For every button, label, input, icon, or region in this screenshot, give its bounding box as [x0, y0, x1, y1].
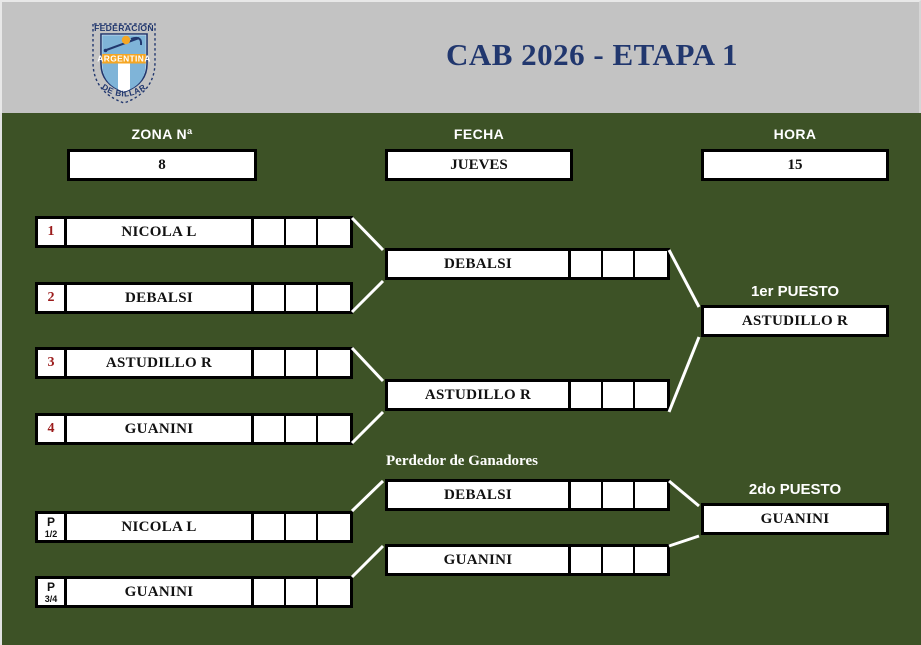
score-cell-3[interactable]: [635, 251, 667, 277]
federation-logo: ARGENTINA FEDERACIÓN DE BILLAR: [84, 12, 164, 107]
score-cell-1[interactable]: [254, 219, 286, 245]
page-title: CAB 2026 - ETAPA 1: [272, 37, 912, 73]
score-cell-3[interactable]: [635, 382, 667, 408]
seed-loser-bottom: 1/2: [45, 530, 58, 539]
semifinal-box-2[interactable]: ASTUDILLO R: [385, 379, 670, 411]
score-cell-1[interactable]: [571, 251, 603, 277]
score-cell-2[interactable]: [286, 285, 318, 311]
player-name: NICOLA L: [67, 219, 254, 245]
score-cell-1[interactable]: [254, 416, 286, 442]
score-cell-2[interactable]: [603, 382, 635, 408]
fecha-value-box[interactable]: JUEVES: [385, 149, 573, 181]
hora-label: HORA: [701, 126, 889, 142]
round1-row-1[interactable]: 1 NICOLA L: [35, 216, 353, 248]
seed-number: 3: [38, 350, 67, 376]
seed-loser-label: P 1/2: [38, 514, 67, 540]
score-cell-2[interactable]: [286, 514, 318, 540]
fecha-label: FECHA: [385, 126, 573, 142]
seed-loser-label: P 3/4: [38, 579, 67, 605]
bracket-field: ZONA Nª FECHA HORA 8 JUEVES 15 1 NICOLA …: [0, 113, 921, 645]
page-header: ARGENTINA FEDERACIÓN DE BILLAR CAB 2026 …: [0, 0, 921, 113]
player-name: GUANINI: [67, 416, 254, 442]
seed-loser-top: P: [47, 516, 55, 528]
player-name: GUANINI: [388, 547, 571, 573]
logo-top-text: FEDERACIÓN: [94, 22, 154, 33]
round1-row-3[interactable]: 3 ASTUDILLO R: [35, 347, 353, 379]
score-cell-3[interactable]: [318, 350, 350, 376]
seed-loser-bottom: 3/4: [45, 595, 58, 604]
player-name: ASTUDILLO R: [388, 382, 571, 408]
losers-row-2[interactable]: P 3/4 GUANINI: [35, 576, 353, 608]
score-cell-1[interactable]: [254, 514, 286, 540]
score-cell-2[interactable]: [286, 416, 318, 442]
seed-number: 1: [38, 219, 67, 245]
score-cell-2[interactable]: [603, 482, 635, 508]
score-cell-2[interactable]: [286, 350, 318, 376]
losers-row-1[interactable]: P 1/2 NICOLA L: [35, 511, 353, 543]
score-cell-1[interactable]: [254, 350, 286, 376]
score-cell-1[interactable]: [571, 382, 603, 408]
score-cell-2[interactable]: [286, 219, 318, 245]
score-cell-3[interactable]: [318, 416, 350, 442]
semifinal-box-1[interactable]: DEBALSI: [385, 248, 670, 280]
logo-band-text: ARGENTINA: [97, 54, 150, 64]
score-cell-2[interactable]: [603, 547, 635, 573]
player-name: DEBALSI: [388, 482, 571, 508]
seed-number: 4: [38, 416, 67, 442]
second-place-label: 2do PUESTO: [701, 481, 889, 498]
round1-row-2[interactable]: 2 DEBALSI: [35, 282, 353, 314]
zona-label: ZONA Nª: [67, 126, 257, 142]
first-place-label: 1er PUESTO: [701, 283, 889, 300]
round1-row-4[interactable]: 4 GUANINI: [35, 413, 353, 445]
score-cell-1[interactable]: [254, 579, 286, 605]
score-cell-3[interactable]: [318, 219, 350, 245]
consolation-box-2[interactable]: GUANINI: [385, 544, 670, 576]
score-cell-2[interactable]: [286, 579, 318, 605]
player-name: GUANINI: [67, 579, 254, 605]
score-cell-1[interactable]: [571, 547, 603, 573]
seed-number: 2: [38, 285, 67, 311]
tournament-bracket-page: ARGENTINA FEDERACIÓN DE BILLAR CAB 2026 …: [0, 0, 921, 645]
hora-value-box[interactable]: 15: [701, 149, 889, 181]
score-cell-3[interactable]: [635, 482, 667, 508]
player-name: ASTUDILLO R: [67, 350, 254, 376]
seed-loser-top: P: [47, 581, 55, 593]
score-cell-3[interactable]: [318, 285, 350, 311]
player-name: NICOLA L: [67, 514, 254, 540]
first-place-box[interactable]: ASTUDILLO R: [701, 305, 889, 337]
player-name: DEBALSI: [67, 285, 254, 311]
score-cell-3[interactable]: [635, 547, 667, 573]
score-cell-1[interactable]: [571, 482, 603, 508]
score-cell-2[interactable]: [603, 251, 635, 277]
score-cell-1[interactable]: [254, 285, 286, 311]
second-place-box[interactable]: GUANINI: [701, 503, 889, 535]
score-cell-3[interactable]: [318, 579, 350, 605]
player-name: DEBALSI: [388, 251, 571, 277]
federation-shield-icon: ARGENTINA FEDERACIÓN DE BILLAR: [84, 12, 164, 107]
perdedor-de-ganadores-heading: Perdedor de Ganadores: [386, 453, 538, 470]
consolation-box-1[interactable]: DEBALSI: [385, 479, 670, 511]
score-cell-3[interactable]: [318, 514, 350, 540]
zona-value-box[interactable]: 8: [67, 149, 257, 181]
